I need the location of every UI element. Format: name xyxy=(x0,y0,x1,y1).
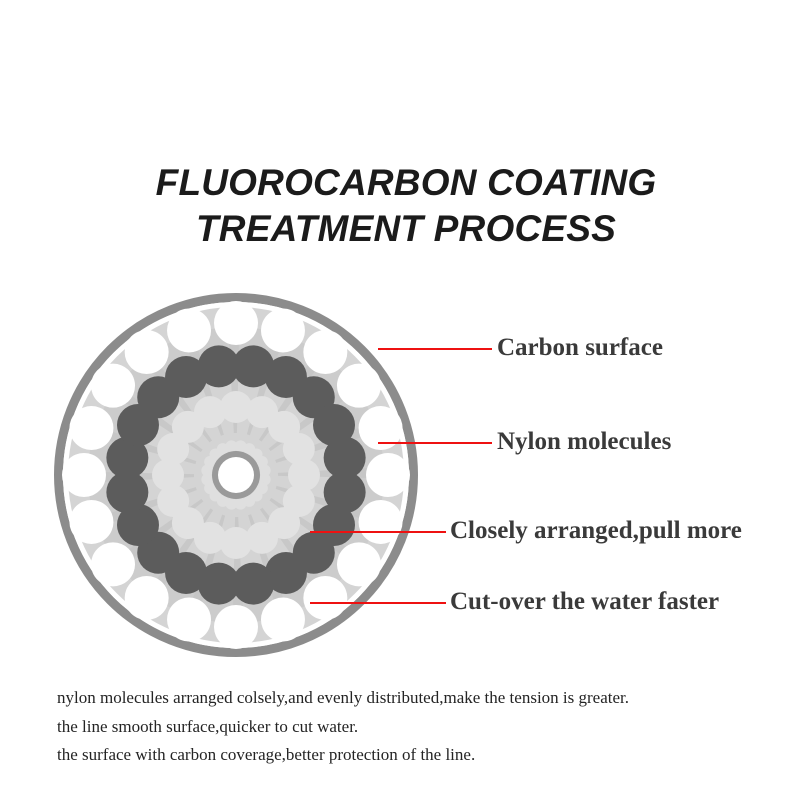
footer-line-1: nylon molecules arranged colsely,and eve… xyxy=(57,684,777,713)
page-canvas: FLUOROCARBON COATING TREATMENT PROCESS C… xyxy=(0,0,800,800)
bead xyxy=(337,364,381,408)
callout-label-cut-over-water: Cut-over the water faster xyxy=(450,588,719,615)
bead xyxy=(261,308,305,352)
core-center xyxy=(218,457,254,493)
bead xyxy=(194,396,226,428)
fishing-line-cross-section-diagram xyxy=(45,285,427,667)
bead xyxy=(167,598,211,642)
bead xyxy=(125,576,169,620)
bead xyxy=(91,542,135,586)
bead xyxy=(359,406,403,450)
bead xyxy=(359,500,403,544)
bead xyxy=(167,308,211,352)
callout-label-nylon-molecules: Nylon molecules xyxy=(497,428,671,455)
bead xyxy=(91,364,135,408)
callout-label-closely-arranged: Closely arranged,pull more xyxy=(450,517,742,544)
bead xyxy=(303,330,347,374)
footer-line-3: the surface with carbon coverage,better … xyxy=(57,741,777,770)
bead xyxy=(337,542,381,586)
footer-description: nylon molecules arranged colsely,and eve… xyxy=(57,684,777,770)
bead xyxy=(225,440,237,452)
bead xyxy=(125,330,169,374)
page-title: FLUOROCARBON COATING TREATMENT PROCESS xyxy=(96,160,716,252)
bead xyxy=(69,500,113,544)
bead xyxy=(69,406,113,450)
bead xyxy=(261,598,305,642)
cross-section-svg xyxy=(45,285,427,667)
footer-line-2: the line smooth surface,quicker to cut w… xyxy=(57,713,777,742)
bead xyxy=(366,453,410,497)
callout-label-carbon-surface: Carbon surface xyxy=(497,334,663,361)
bead xyxy=(62,453,106,497)
bead xyxy=(303,576,347,620)
bead xyxy=(214,605,258,649)
bead xyxy=(198,345,240,387)
bead xyxy=(214,301,258,345)
